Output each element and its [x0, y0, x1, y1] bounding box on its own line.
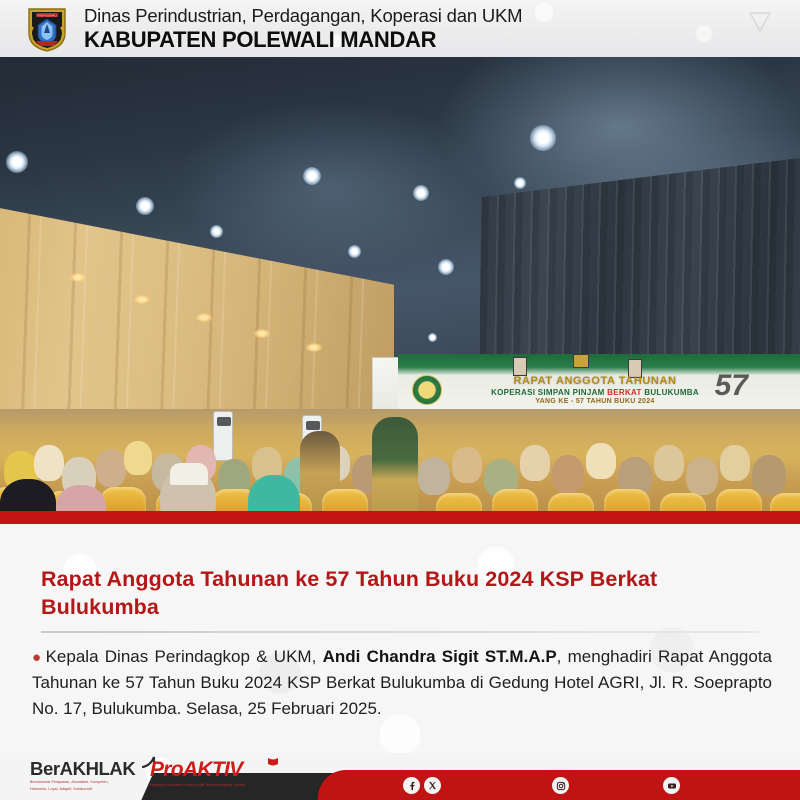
ceiling-light	[514, 177, 526, 189]
triangle-watermark-icon	[748, 11, 772, 33]
banner-line-2: KOPERASI SIMPAN PINJAM BERKAT BULUKUMBA	[430, 388, 760, 397]
attendee	[452, 447, 482, 483]
article-section: Rapat Anggota Tahunan ke 57 Tahun Buku 2…	[0, 524, 800, 753]
attendee	[520, 445, 550, 481]
attendee	[720, 445, 750, 481]
attendee	[586, 443, 616, 479]
official-portrait	[513, 357, 527, 376]
ceiling-light	[136, 197, 154, 215]
proaktiv-text: ProAKTIV	[150, 758, 242, 781]
ceiling-light	[530, 125, 556, 151]
wall-light	[134, 295, 150, 304]
article-body-part1: Kepala Dinas Perindagkop & UKM,	[46, 647, 323, 666]
header-title-block: Dinas Perindustrian, Perdagangan, Kopera…	[84, 4, 522, 53]
attendee	[96, 449, 126, 487]
wall-light	[70, 273, 86, 282]
x-twitter-icon[interactable]	[424, 777, 441, 794]
title-divider	[41, 631, 759, 633]
banner-line-2-highlight: BERKAT	[607, 388, 642, 397]
page-footer: BerAKHLAK Berorientasi Pelayanan, Akunta…	[0, 753, 800, 800]
air-conditioner	[213, 411, 233, 461]
audience-crowd	[0, 409, 800, 524]
attendee	[124, 441, 152, 475]
article-body: ●Kepala Dinas Perindagkop & UKM, Andi Ch…	[32, 644, 772, 721]
banner-line-2-prefix: KOPERASI SIMPAN PINJAM	[491, 388, 607, 397]
attendee	[686, 457, 718, 495]
attendee	[654, 445, 684, 481]
youtube-icon[interactable]	[663, 777, 680, 794]
header-department-name: Dinas Perindustrian, Perdagangan, Kopera…	[84, 4, 522, 27]
social-link-instagram[interactable]	[552, 777, 569, 794]
attendee	[34, 445, 64, 481]
ceiling-light	[210, 225, 223, 238]
article-title: Rapat Anggota Tahunan ke 57 Tahun Buku 2…	[41, 565, 741, 621]
svg-text:KAB POLEWALI: KAB POLEWALI	[37, 13, 56, 17]
banner-anniversary-number: 57	[715, 369, 748, 403]
attendee	[552, 455, 584, 493]
banner-line-3: YANG KE - 57 TAHUN BUKU 2024	[430, 398, 760, 405]
attendee	[752, 455, 786, 495]
page-title: KABUPATEN POLEWALI MANDAR	[84, 27, 522, 53]
national-emblem	[573, 354, 589, 368]
page-header: KAB POLEWALI Dinas Perindustrian, Perdag…	[0, 0, 800, 57]
standing-attendee	[372, 417, 418, 524]
ceiling-light	[303, 167, 321, 185]
wall-light	[196, 313, 212, 322]
polewali-mandar-coat-of-arms-logo: KAB POLEWALI	[23, 5, 71, 53]
flag-icon	[266, 755, 279, 770]
foreground-attendee-cap	[170, 463, 208, 485]
social-links-facebook-x[interactable]	[403, 777, 441, 794]
bullet-icon: ●	[32, 649, 43, 666]
official-name: Andi Chandra Sigit ST.M.A.P	[323, 647, 557, 666]
berakhlak-tagline-1: Berorientasi Pelayanan, Akuntabel, Kompe…	[30, 780, 145, 785]
red-accent-strip	[0, 511, 800, 524]
ceiling-light	[428, 333, 437, 342]
facebook-icon[interactable]	[403, 777, 420, 794]
social-link-youtube[interactable]	[663, 777, 680, 794]
ceiling-light	[348, 245, 361, 258]
berakhlak-wordmark: BerAKHLAK	[30, 759, 145, 778]
ceiling-light	[438, 259, 454, 275]
attendee	[418, 457, 450, 495]
berakhlak-tagline-2: Harmonis, Loyal, Adaptif, Kolaboratif	[30, 787, 145, 792]
banner-line-1: RAPAT ANGGOTA TAHUNAN	[430, 375, 760, 387]
berakhlak-logo: BerAKHLAK Berorientasi Pelayanan, Akunta…	[30, 759, 145, 792]
proaktiv-tagline: Pelayanan Akuntabel Kreatif Inovatif Ter…	[150, 783, 270, 788]
proaktiv-wordmark: ProAKTIV	[150, 759, 270, 781]
wall-light	[254, 329, 270, 338]
proaktiv-logo: ProAKTIV Pelayanan Akuntabel Kreatif Ino…	[150, 759, 270, 788]
berakhlak-text: BerAKHLAK	[30, 758, 135, 779]
instagram-icon[interactable]	[552, 777, 569, 794]
ceiling-light	[413, 185, 429, 201]
event-photo: RAPAT ANGGOTA TAHUNAN KOPERASI SIMPAN PI…	[0, 57, 800, 524]
wall-light	[306, 343, 322, 352]
banner-line-2-suffix: BULUKUMBA	[642, 388, 699, 397]
ceiling-light	[6, 151, 28, 173]
